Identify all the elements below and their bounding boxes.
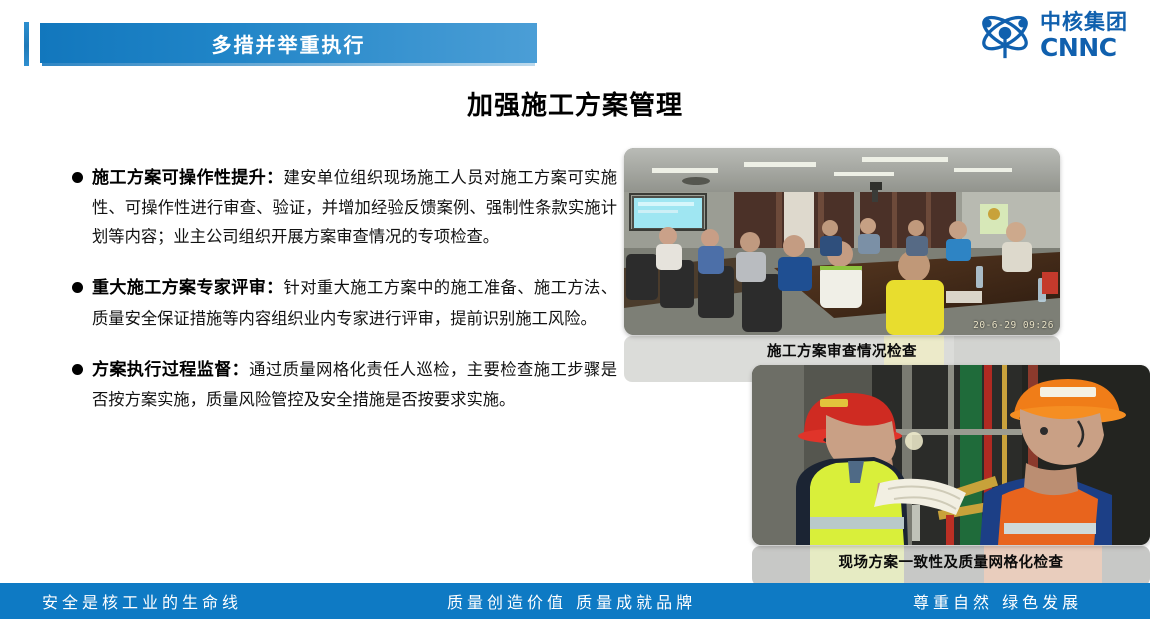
- header-banner-title: 多措并举重执行: [212, 29, 366, 58]
- list-item: 施工方案可操作性提升：建安单位组织现场施工人员对施工方案可实施性、可操作性进行审…: [72, 163, 617, 251]
- logo-chinese-name: 中核集团: [1040, 12, 1128, 33]
- bullet-body: 重大施工方案专家评审：针对重大施工方案中的施工准备、施工方法、质量安全保证措施等…: [92, 273, 617, 332]
- bullet-dot-icon: [72, 282, 83, 293]
- photo-timestamp: 20-6-29 09:26: [973, 320, 1054, 331]
- bullet-lead-label: 方案执行过程监督：: [92, 360, 249, 380]
- bullet-paragraph: 施工方案可操作性提升：建安单位组织现场施工人员对施工方案可实施性、可操作性进行审…: [92, 163, 617, 251]
- header-banner: 多措并举重执行: [40, 23, 537, 63]
- logo-english-name: CNNC: [1040, 35, 1128, 60]
- footer-slogan-safety: 安全是核工业的生命线: [42, 589, 242, 613]
- footer-slogan-quality: 质量创造价值 质量成就品牌: [447, 589, 696, 613]
- list-item: 方案执行过程监督：通过质量网格化责任人巡检，主要检查施工步骤是否按方案实施，质量…: [72, 355, 617, 414]
- header-accent-bar: [24, 22, 29, 66]
- list-item: 重大施工方案专家评审：针对重大施工方案中的施工准备、施工方法、质量安全保证措施等…: [72, 273, 617, 332]
- site-inspection-photo: [752, 365, 1150, 545]
- header-banner-underline: [42, 63, 535, 66]
- page-title: 加强施工方案管理: [0, 85, 1150, 122]
- bullet-lead-label: 施工方案可操作性提升：: [92, 168, 284, 188]
- footer-slogan-environment: 尊重自然 绿色发展: [913, 589, 1082, 613]
- cnnc-logo: 中核集团 CNNC: [976, 10, 1128, 62]
- bullet-lead-label: 重大施工方案专家评审：: [92, 278, 284, 298]
- bullet-body: 方案执行过程监督：通过质量网格化责任人巡检，主要检查施工步骤是否按方案实施，质量…: [92, 355, 617, 414]
- bullet-paragraph: 方案执行过程监督：通过质量网格化责任人巡检，主要检查施工步骤是否按方案实施，质量…: [92, 355, 617, 414]
- logo-wordmark: 中核集团 CNNC: [1040, 12, 1128, 60]
- bullet-body: 施工方案可操作性提升：建安单位组织现场施工人员对施工方案可实施性、可操作性进行审…: [92, 163, 617, 251]
- atom-icon: [976, 10, 1034, 62]
- meeting-room-photo: 20-6-29 09:26: [624, 148, 1060, 335]
- photo-caption: 施工方案审查情况检查: [624, 340, 1060, 361]
- bullet-dot-icon: [72, 364, 83, 375]
- footer-bar: 安全是核工业的生命线 质量创造价值 质量成就品牌 尊重自然 绿色发展: [0, 583, 1150, 619]
- bullet-dot-icon: [72, 172, 83, 183]
- slide-root: 多措并举重执行 中核集团 CNNC 加强施工方案管理: [0, 0, 1150, 619]
- bullet-list: 施工方案可操作性提升：建安单位组织现场施工人员对施工方案可实施性、可操作性进行审…: [72, 163, 617, 436]
- photo-caption: 现场方案一致性及质量网格化检查: [752, 551, 1150, 572]
- bullet-paragraph: 重大施工方案专家评审：针对重大施工方案中的施工准备、施工方法、质量安全保证措施等…: [92, 273, 617, 332]
